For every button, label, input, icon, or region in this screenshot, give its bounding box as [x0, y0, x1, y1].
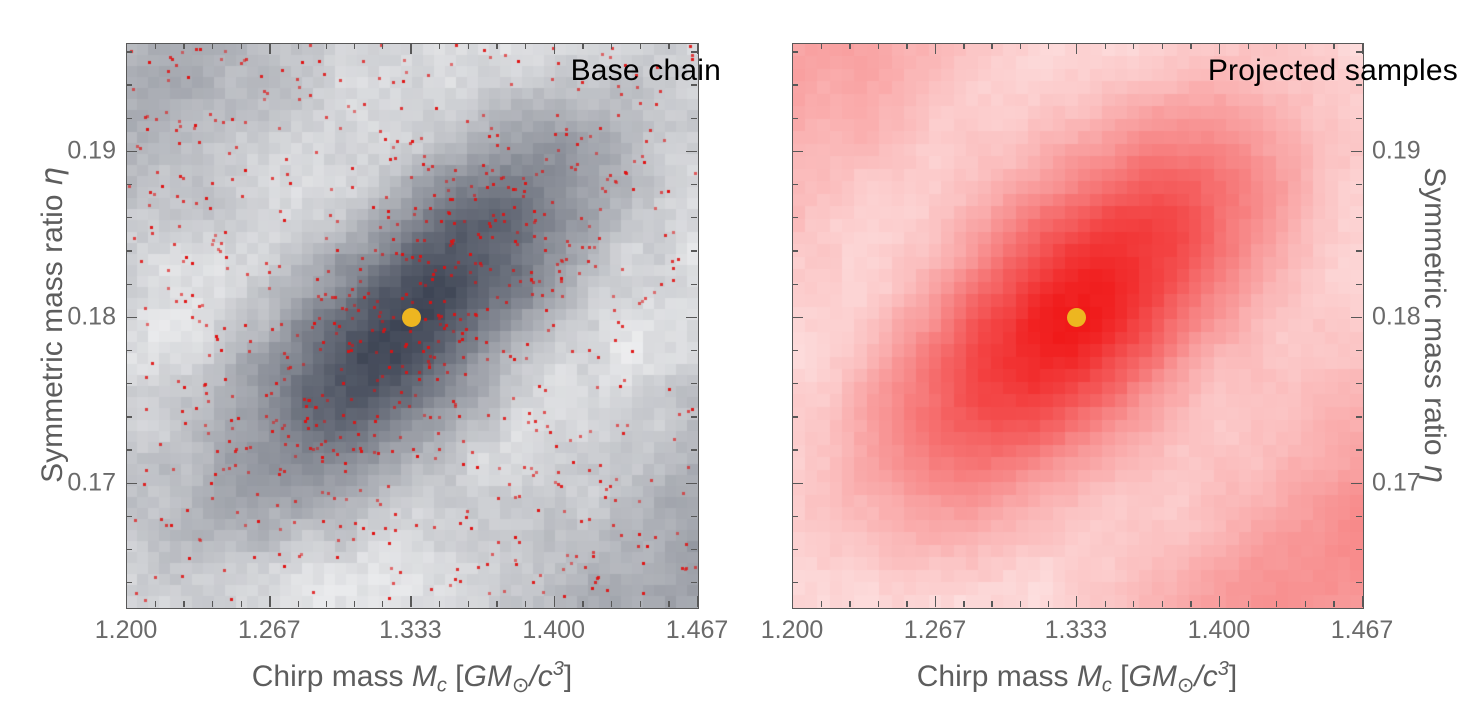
x-minor-tick-top: [582, 43, 583, 49]
x-axis-title-symbol: M: [1077, 660, 1102, 693]
y-minor-tick-right: [691, 284, 697, 285]
y-minor-tick-right: [1356, 383, 1362, 384]
x-minor-tick: [183, 601, 184, 607]
x-major-tick: [1076, 596, 1077, 607]
x-minor-tick-top: [1133, 43, 1134, 49]
x-axis-title-symbol: M: [412, 660, 437, 693]
y-minor-tick: [792, 217, 798, 218]
x-minor-tick-top: [878, 43, 879, 49]
y-major-tick-right: [1351, 151, 1362, 152]
x-tick-label: 1.267: [238, 618, 301, 643]
x-minor-tick: [326, 601, 327, 607]
x-tick-label: 1.400: [1188, 618, 1251, 643]
y-minor-tick-right: [691, 118, 697, 119]
x-minor-tick: [496, 601, 497, 607]
x-major-tick: [1362, 596, 1363, 607]
x-major-tick: [126, 596, 127, 607]
y-minor-tick: [126, 250, 132, 251]
x-minor-tick-top: [1305, 43, 1306, 49]
x-minor-tick-top: [1248, 43, 1249, 49]
y-minor-tick-right: [691, 416, 697, 417]
x-tick-label: 1.400: [522, 618, 585, 643]
x-axis-title-units-g: GM: [463, 660, 511, 693]
y-major-tick: [792, 151, 803, 152]
panel-projected-samples: Projected samples 1.2001.2671.3331.4001.…: [739, 0, 1478, 719]
x-major-tick: [410, 596, 411, 607]
y-minor-tick: [126, 184, 132, 185]
x-tick-label: 1.200: [95, 618, 158, 643]
y-minor-tick: [126, 582, 132, 583]
x-tick-label: 1.267: [904, 618, 967, 643]
x-axis-title-units-div: /c: [529, 660, 552, 693]
y-minor-tick: [792, 350, 798, 351]
x-axis-title-units-g: GM: [1128, 660, 1176, 693]
y-minor-tick-right: [1356, 350, 1362, 351]
x-major-tick-top: [697, 43, 698, 54]
x-major-tick: [269, 596, 270, 607]
x-minor-tick: [382, 601, 383, 607]
y-minor-tick-right: [691, 217, 697, 218]
x-minor-tick: [1105, 601, 1106, 607]
plot-frame-projected-samples: [792, 43, 1364, 609]
y-major-tick: [792, 317, 803, 318]
x-minor-tick-top: [668, 43, 669, 49]
figure-canvas: Base chain 1.2001.2671.3331.4001.467 0.1…: [0, 0, 1478, 719]
y-minor-tick-right: [691, 449, 697, 450]
y-minor-tick-right: [1356, 416, 1362, 417]
x-minor-tick: [155, 601, 156, 607]
y-axis-title-projected-samples: Symmetric mass ratio η: [1417, 167, 1451, 483]
x-axis-title-bracket-open: [: [1112, 660, 1129, 693]
y-minor-tick-right: [691, 250, 697, 251]
y-minor-tick-right: [1356, 284, 1362, 285]
y-minor-tick: [126, 516, 132, 517]
y-minor-tick: [792, 383, 798, 384]
x-minor-tick-top: [1276, 43, 1277, 49]
x-minor-tick-top: [906, 43, 907, 49]
y-minor-tick-right: [691, 582, 697, 583]
x-axis-title-bracket-open: [: [447, 660, 464, 693]
x-minor-tick-top: [354, 43, 355, 49]
x-minor-tick-top: [298, 43, 299, 49]
x-minor-tick: [439, 601, 440, 607]
y-minor-tick: [792, 118, 798, 119]
x-axis-title-bracket-close: ]: [1229, 660, 1237, 693]
y-major-tick: [126, 317, 137, 318]
x-minor-tick: [878, 601, 879, 607]
y-minor-tick: [126, 449, 132, 450]
x-minor-tick-top: [155, 43, 156, 49]
x-minor-tick: [354, 601, 355, 607]
x-axis-title-subscript: c: [437, 675, 447, 697]
y-minor-tick-right: [1356, 184, 1362, 185]
y-minor-tick-right: [691, 516, 697, 517]
y-major-tick: [792, 483, 803, 484]
x-axis-title-units-div: /c: [1194, 660, 1217, 693]
x-minor-tick: [1190, 601, 1191, 607]
x-minor-tick: [849, 601, 850, 607]
y-minor-tick: [792, 84, 798, 85]
y-minor-tick-right: [1356, 250, 1362, 251]
x-major-tick-top: [935, 43, 936, 54]
x-minor-tick-top: [525, 43, 526, 49]
y-axis-title-symbol: η: [35, 167, 70, 186]
x-axis-title-lead: Chirp mass: [917, 660, 1077, 693]
x-tick-label: 1.200: [761, 618, 824, 643]
x-minor-tick: [1162, 601, 1163, 607]
y-minor-tick: [126, 350, 132, 351]
x-minor-tick: [468, 601, 469, 607]
y-tick-label: 0.17: [1372, 470, 1421, 495]
x-axis-title-units-exp: 3: [1218, 658, 1229, 680]
x-major-tick-top: [1076, 43, 1077, 54]
y-minor-tick-right: [1356, 118, 1362, 119]
y-minor-tick: [792, 284, 798, 285]
y-minor-tick: [126, 284, 132, 285]
x-minor-tick: [611, 601, 612, 607]
x-minor-tick-top: [849, 43, 850, 49]
panel-title-projected-samples: Projected samples: [1208, 56, 1458, 86]
x-major-tick: [1219, 596, 1220, 607]
x-minor-tick-top: [382, 43, 383, 49]
x-minor-tick-top: [963, 43, 964, 49]
y-axis-title-symbol: η: [1417, 464, 1452, 483]
x-axis-title-bracket-close: ]: [564, 660, 572, 693]
x-tick-label: 1.333: [379, 618, 442, 643]
x-minor-tick-top: [212, 43, 213, 49]
y-tick-label: 0.18: [1372, 304, 1421, 329]
x-minor-tick-top: [1105, 43, 1106, 49]
x-minor-tick-top: [1333, 43, 1334, 49]
x-major-tick: [935, 596, 936, 607]
x-minor-tick-top: [1048, 43, 1049, 49]
x-axis-title-units-sun: ⊙: [1177, 674, 1195, 697]
x-minor-tick-top: [991, 43, 992, 49]
y-axis-title-lead: Symmetric mass ratio: [1418, 167, 1451, 464]
y-minor-tick: [792, 250, 798, 251]
y-tick-label: 0.19: [67, 138, 116, 163]
y-minor-tick-right: [1356, 449, 1362, 450]
x-minor-tick: [1276, 601, 1277, 607]
x-major-tick-top: [1219, 43, 1220, 54]
x-minor-tick: [241, 601, 242, 607]
y-major-tick-right: [686, 317, 697, 318]
y-minor-tick: [792, 51, 798, 52]
panel-title-base-chain: Base chain: [571, 56, 721, 86]
y-major-tick-right: [1351, 483, 1362, 484]
plot-frame-base-chain: [126, 43, 699, 609]
x-minor-tick: [582, 601, 583, 607]
y-minor-tick-right: [1356, 84, 1362, 85]
y-minor-tick-right: [1356, 549, 1362, 550]
x-minor-tick: [963, 601, 964, 607]
x-axis-title-subscript: c: [1102, 675, 1112, 697]
x-minor-tick: [906, 601, 907, 607]
x-minor-tick-top: [468, 43, 469, 49]
x-minor-tick-top: [241, 43, 242, 49]
y-major-tick-right: [686, 483, 697, 484]
x-minor-tick-top: [326, 43, 327, 49]
y-minor-tick-right: [1356, 516, 1362, 517]
x-minor-tick: [1133, 601, 1134, 607]
x-minor-tick-top: [496, 43, 497, 49]
y-minor-tick: [126, 84, 132, 85]
x-major-tick-top: [554, 43, 555, 54]
x-axis-title-projected-samples: Chirp mass Mc [GM⊙/c3]: [917, 652, 1237, 703]
x-minor-tick-top: [1162, 43, 1163, 49]
x-minor-tick-top: [640, 43, 641, 49]
y-minor-tick: [126, 383, 132, 384]
y-axis-title-lead: Symmetric mass ratio: [36, 186, 69, 483]
x-tick-label: 1.333: [1045, 618, 1108, 643]
x-major-tick-top: [1362, 43, 1363, 54]
x-major-tick-top: [410, 43, 411, 54]
y-minor-tick: [792, 449, 798, 450]
y-minor-tick: [126, 549, 132, 550]
x-minor-tick-top: [611, 43, 612, 49]
y-minor-tick-right: [691, 549, 697, 550]
y-minor-tick: [792, 549, 798, 550]
y-minor-tick-right: [691, 350, 697, 351]
x-axis-title-lead: Chirp mass: [252, 660, 412, 693]
y-minor-tick: [126, 51, 132, 52]
y-major-tick: [126, 483, 137, 484]
x-major-tick: [554, 596, 555, 607]
x-minor-tick: [1020, 601, 1021, 607]
y-major-tick-right: [686, 151, 697, 152]
y-minor-tick: [126, 118, 132, 119]
y-minor-tick-right: [1356, 582, 1362, 583]
x-tick-label: 1.467: [666, 618, 729, 643]
x-minor-tick: [298, 601, 299, 607]
x-minor-tick: [991, 601, 992, 607]
x-minor-tick-top: [183, 43, 184, 49]
y-minor-tick-right: [691, 84, 697, 85]
y-minor-tick: [792, 184, 798, 185]
panel-base-chain: Base chain 1.2001.2671.3331.4001.467 0.1…: [0, 0, 739, 719]
x-minor-tick: [821, 601, 822, 607]
y-tick-label: 0.17: [67, 470, 116, 495]
x-major-tick-top: [269, 43, 270, 54]
x-minor-tick: [1248, 601, 1249, 607]
x-minor-tick: [668, 601, 669, 607]
x-minor-tick-top: [439, 43, 440, 49]
y-tick-label: 0.19: [1372, 138, 1421, 163]
x-minor-tick: [212, 601, 213, 607]
x-tick-label: 1.467: [1331, 618, 1394, 643]
y-minor-tick-right: [1356, 51, 1362, 52]
x-axis-title-units-sun: ⊙: [512, 674, 530, 697]
y-minor-tick: [792, 516, 798, 517]
y-tick-label: 0.18: [67, 304, 116, 329]
y-axis-title-base-chain: Symmetric mass ratio η: [36, 167, 70, 483]
x-minor-tick-top: [1020, 43, 1021, 49]
x-minor-tick: [640, 601, 641, 607]
y-minor-tick-right: [691, 184, 697, 185]
x-minor-tick: [1048, 601, 1049, 607]
x-minor-tick: [525, 601, 526, 607]
x-minor-tick: [1333, 601, 1334, 607]
y-minor-tick: [792, 582, 798, 583]
x-minor-tick-top: [1190, 43, 1191, 49]
x-axis-title-units-exp: 3: [553, 658, 564, 680]
y-minor-tick: [792, 416, 798, 417]
y-minor-tick-right: [1356, 217, 1362, 218]
x-major-tick: [697, 596, 698, 607]
x-axis-title-base-chain: Chirp mass Mc [GM⊙/c3]: [252, 652, 572, 703]
injected-value-marker: [402, 308, 421, 327]
x-major-tick: [792, 596, 793, 607]
y-minor-tick-right: [691, 383, 697, 384]
y-minor-tick: [126, 217, 132, 218]
x-minor-tick-top: [821, 43, 822, 49]
y-minor-tick: [126, 416, 132, 417]
y-major-tick: [126, 151, 137, 152]
y-major-tick-right: [1351, 317, 1362, 318]
x-minor-tick: [1305, 601, 1306, 607]
y-minor-tick-right: [691, 51, 697, 52]
